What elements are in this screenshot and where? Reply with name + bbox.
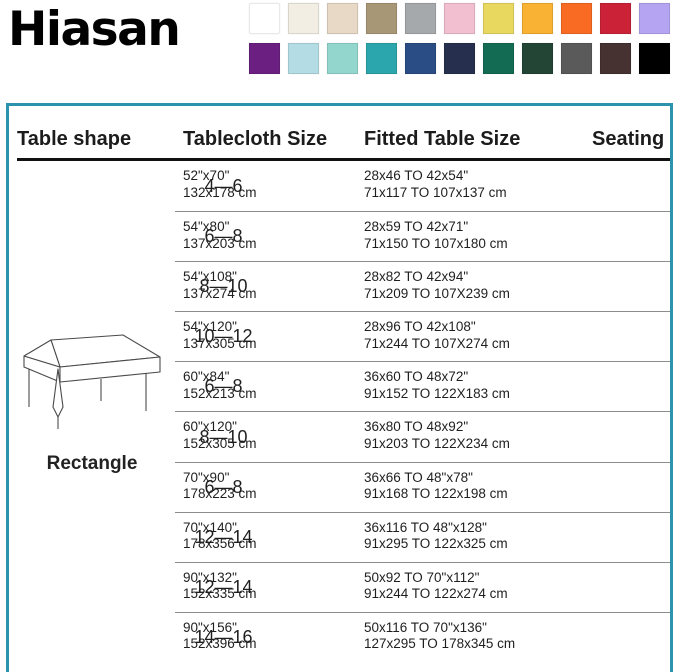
brand-header: Hiasan <box>0 0 679 92</box>
color-swatch-brown[interactable] <box>600 43 631 74</box>
cell-tablecloth-size: 54"x108"137x274 cm <box>183 269 257 302</box>
color-swatch-denim-blue[interactable] <box>405 43 436 74</box>
cell-tablecloth-size: 70"x90"178x223 cm <box>183 470 257 503</box>
cell-fitted-table-size: 50x116 TO 70"x136"127x295 TO 178x345 cm <box>364 620 515 653</box>
table-row: 90"x132"152x335 cm50x92 TO 70"x112"91x24… <box>175 562 670 612</box>
color-swatch-charcoal-grey[interactable] <box>561 43 592 74</box>
cell-tablecloth-size: 60"x84"152x213 cm <box>183 369 257 402</box>
color-swatch-emerald[interactable] <box>483 43 514 74</box>
color-swatch-lavender[interactable] <box>639 3 670 34</box>
column-header-tablecloth-size: Tablecloth Size <box>183 128 327 151</box>
color-swatch-khaki[interactable] <box>366 3 397 34</box>
color-swatch-yellow[interactable] <box>483 3 514 34</box>
column-header-fitted-table-size: Fitted Table Size <box>364 128 520 151</box>
color-swatch-orange[interactable] <box>561 3 592 34</box>
color-swatch-black[interactable] <box>639 43 670 74</box>
color-swatch-white[interactable] <box>249 3 280 34</box>
table-row: 90"x156"152x396 cm50x116 TO 70"x136"127x… <box>175 612 670 662</box>
column-header-table-shape: Table shape <box>17 128 131 151</box>
color-swatch-dark-green[interactable] <box>522 43 553 74</box>
color-swatch-light-blue[interactable] <box>288 43 319 74</box>
cell-fitted-table-size: 36x60 TO 48x72"91x152 TO 122X183 cm <box>364 369 510 402</box>
color-swatch-pink[interactable] <box>444 3 475 34</box>
color-swatch-grid <box>249 3 670 74</box>
table-row: 54"x120"137x305 cm28x96 TO 42x108"71x244… <box>175 311 670 361</box>
cell-tablecloth-size: 54"x80"137x203 cm <box>183 219 257 252</box>
color-swatch-row-2 <box>249 43 670 74</box>
color-swatch-row-1 <box>249 3 670 34</box>
color-swatch-navy[interactable] <box>444 43 475 74</box>
table-row: 70"x140"178x356 cm36x116 TO 48"x128"91x2… <box>175 512 670 562</box>
color-swatch-purple[interactable] <box>249 43 280 74</box>
cell-tablecloth-size: 52"x70"132x178 cm <box>183 168 257 201</box>
cell-fitted-table-size: 36x66 TO 48"x78"91x168 TO 122x198 cm <box>364 470 508 503</box>
cell-fitted-table-size: 36x116 TO 48"x128"91x295 TO 122x325 cm <box>364 520 508 553</box>
cell-fitted-table-size: 50x92 TO 70"x112"91x244 TO 122x274 cm <box>364 570 508 603</box>
table-row: 60"x120"152x305 cm36x80 TO 48x92"91x203 … <box>175 411 670 461</box>
color-swatch-grey[interactable] <box>405 3 436 34</box>
cell-fitted-table-size: 28x46 TO 42x54"71x117 TO 107x137 cm <box>364 168 507 201</box>
table-row: 52"x70"132x178 cm28x46 TO 42x54"71x117 T… <box>175 161 670 211</box>
color-swatch-beige[interactable] <box>327 3 358 34</box>
column-header-seating: Seating <box>592 128 664 151</box>
table-row: 54"x80"137x203 cm28x59 TO 42x71"71x150 T… <box>175 211 670 261</box>
table-shape-column: Rectangle <box>9 161 175 672</box>
rectangle-table-illustration <box>15 329 167 439</box>
cell-tablecloth-size: 90"x156"152x396 cm <box>183 620 257 653</box>
table-header-row: Table shape Tablecloth Size Fitted Table… <box>9 106 670 159</box>
cell-fitted-table-size: 28x96 TO 42x108"71x244 TO 107X274 cm <box>364 319 510 352</box>
cell-tablecloth-size: 70"x140"178x356 cm <box>183 520 257 553</box>
cell-tablecloth-size: 90"x132"152x335 cm <box>183 570 257 603</box>
color-swatch-ivory[interactable] <box>288 3 319 34</box>
color-swatch-aqua[interactable] <box>327 43 358 74</box>
table-row: 60"x84"152x213 cm36x60 TO 48x72"91x152 T… <box>175 361 670 411</box>
cell-fitted-table-size: 36x80 TO 48x92"91x203 TO 122X234 cm <box>364 419 510 452</box>
cell-fitted-table-size: 28x59 TO 42x71"71x150 TO 107x180 cm <box>364 219 508 252</box>
color-swatch-teal[interactable] <box>366 43 397 74</box>
table-shape-label: Rectangle <box>9 453 175 475</box>
color-swatch-red[interactable] <box>600 3 631 34</box>
size-chart-rows: 52"x70"132x178 cm28x46 TO 42x54"71x117 T… <box>175 161 670 672</box>
size-chart-frame: Table shape Tablecloth Size Fitted Table… <box>6 103 673 672</box>
color-swatch-gold[interactable] <box>522 3 553 34</box>
cell-tablecloth-size: 60"x120"152x305 cm <box>183 419 257 452</box>
brand-logo: Hiasan <box>8 6 179 53</box>
cell-tablecloth-size: 54"x120"137x305 cm <box>183 319 257 352</box>
cell-fitted-table-size: 28x82 TO 42x94"71x209 TO 107X239 cm <box>364 269 510 302</box>
table-row: 54"x108"137x274 cm28x82 TO 42x94"71x209 … <box>175 261 670 311</box>
table-row: 70"x90"178x223 cm36x66 TO 48"x78"91x168 … <box>175 462 670 512</box>
